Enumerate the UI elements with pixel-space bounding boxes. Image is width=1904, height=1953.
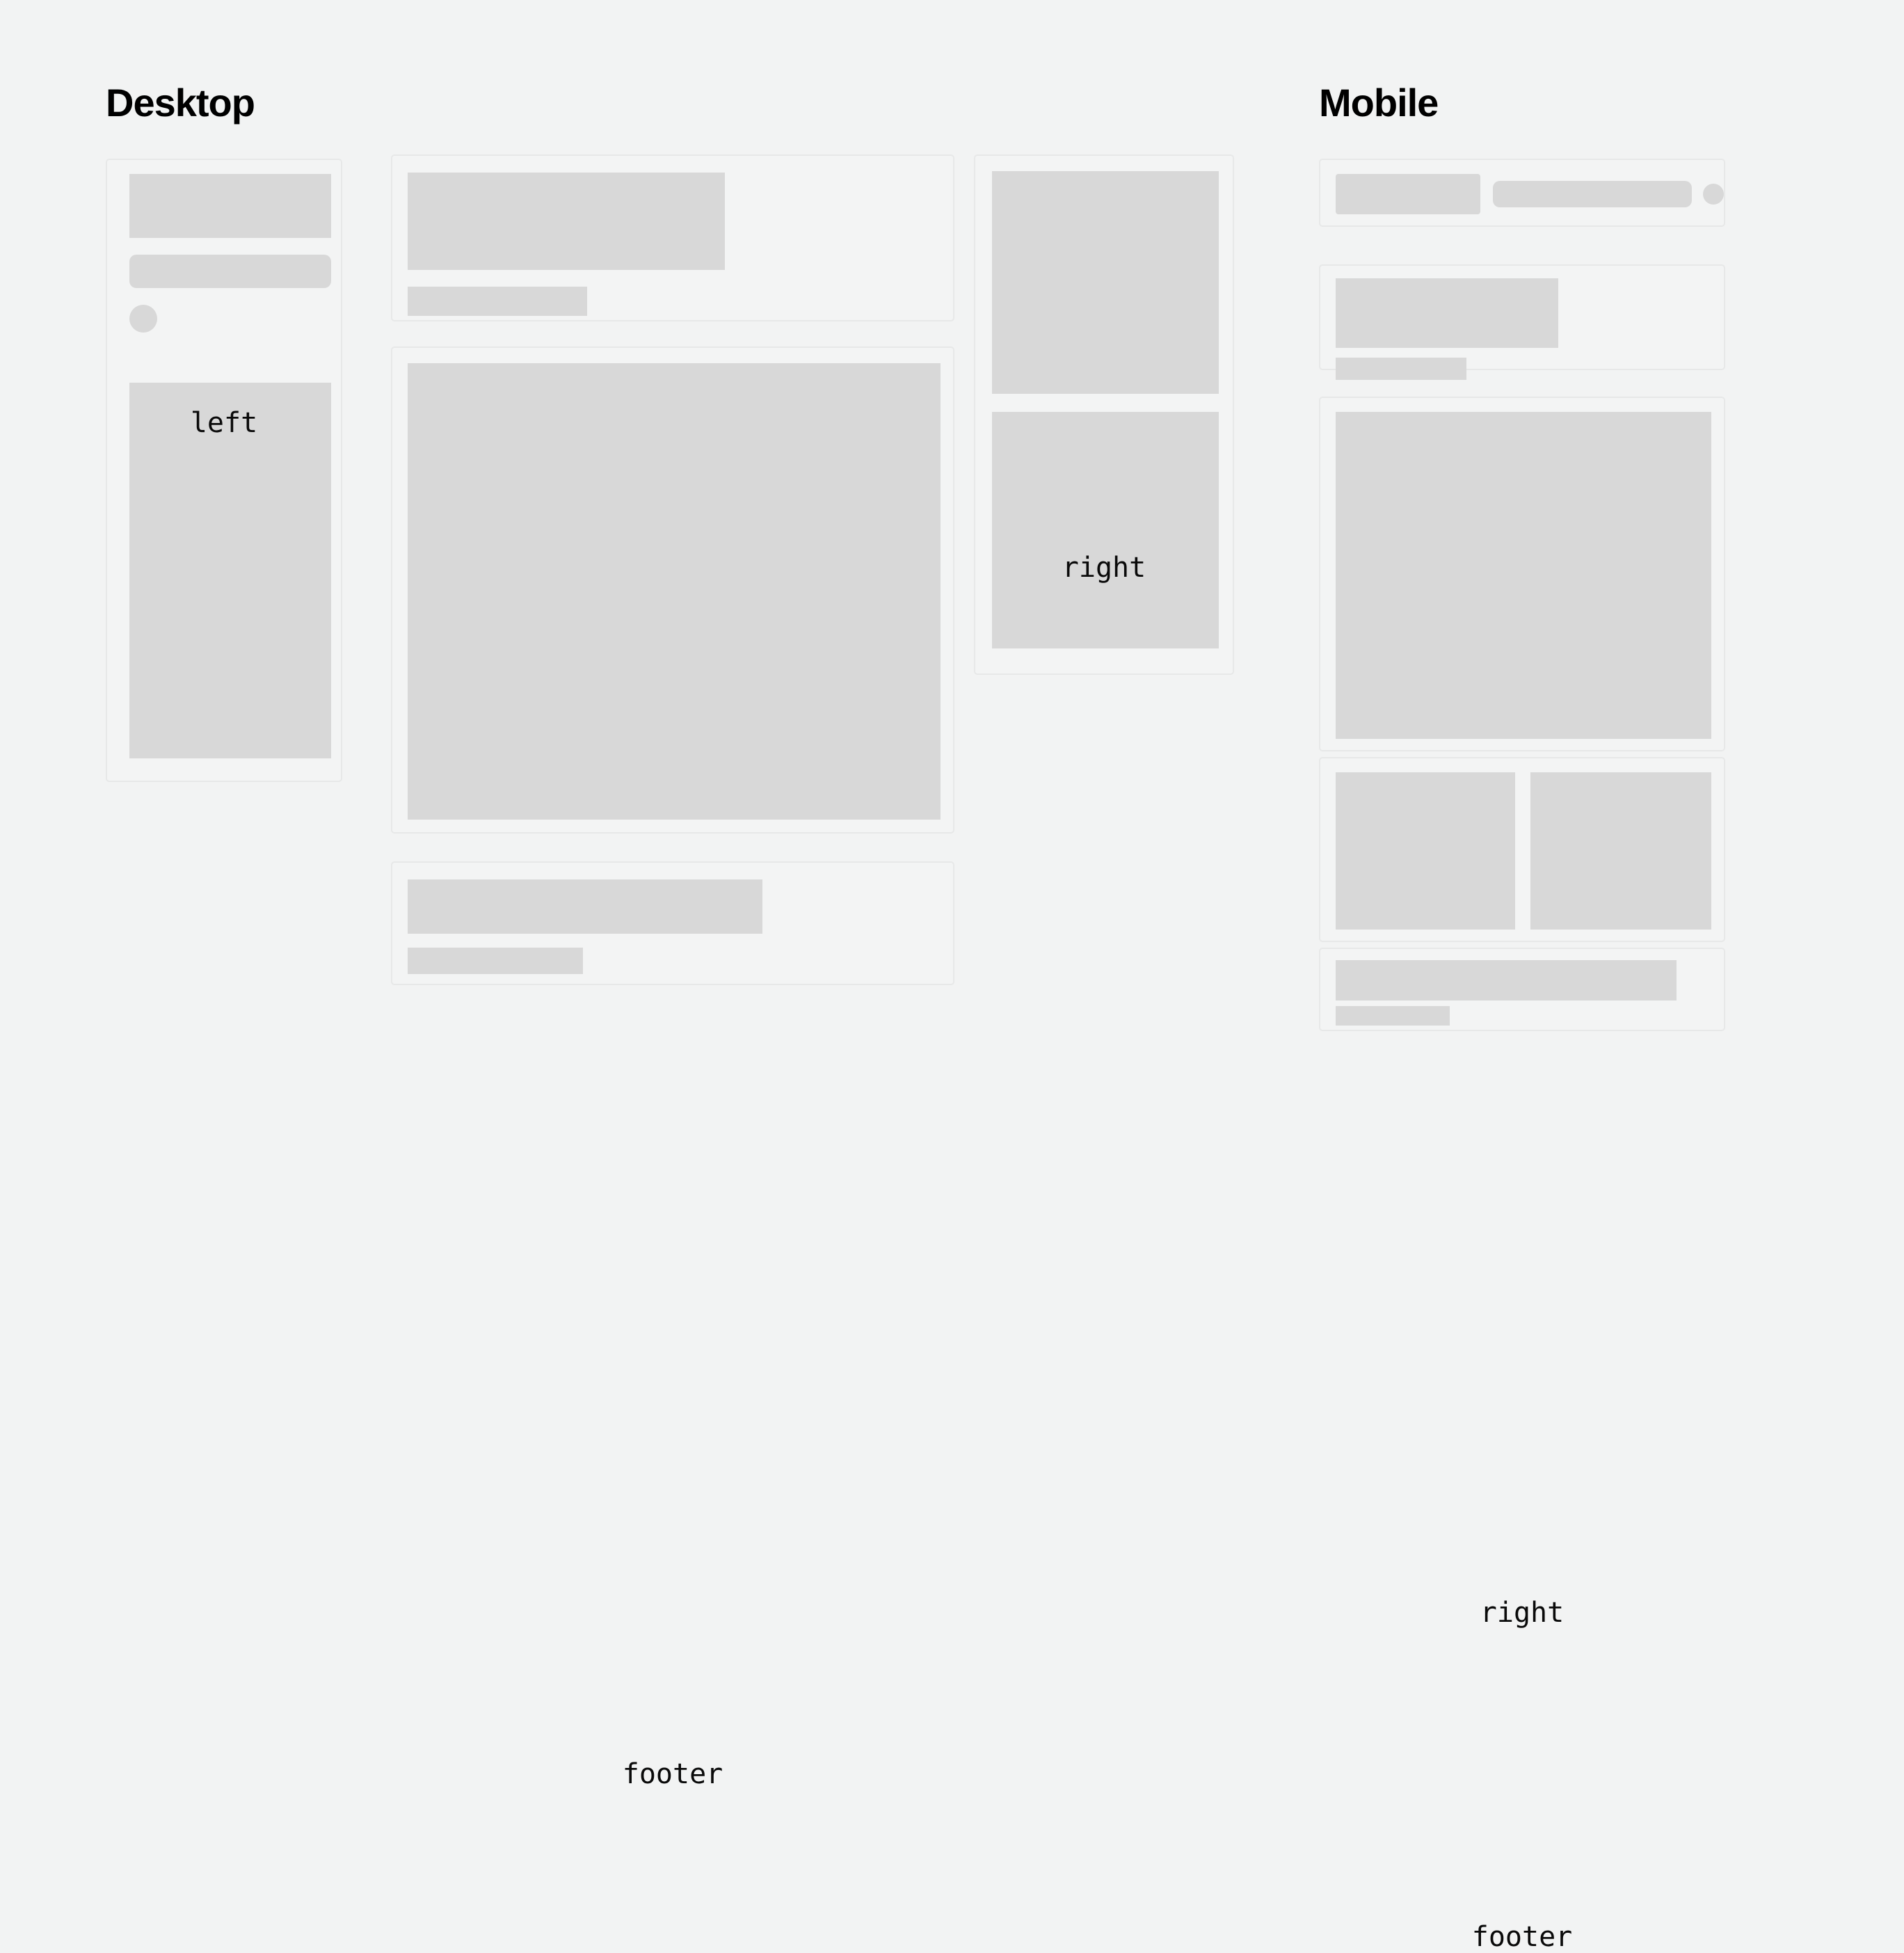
skeleton-bar-short: [1336, 1006, 1450, 1026]
mobile-beforebody-content: [1320, 266, 1724, 369]
desktop-panel-beforebody[interactable]: beforeBody: [391, 154, 954, 321]
desktop-panel-left[interactable]: left: [106, 159, 342, 782]
skeleton-block-large: [129, 174, 331, 238]
mobile-footer-label: footer: [1320, 1923, 1724, 1951]
desktop-panel-footer[interactable]: footer: [391, 861, 954, 985]
layout-preview-page: { "page": { "background_color": "#f2f3f3…: [0, 0, 1904, 1076]
mobile-right-content: [1320, 758, 1724, 941]
desktop-left-content: [107, 160, 341, 781]
skeleton-bar-short: [1336, 358, 1466, 380]
desktop-pagebody-content: [392, 348, 953, 832]
mobile-panel-pagebody[interactable]: pageBody: [1319, 397, 1725, 751]
skeleton-bar-rounded: [1493, 181, 1692, 207]
mobile-panel-footer[interactable]: footer: [1319, 948, 1725, 1031]
skeleton-bar-short: [408, 948, 583, 974]
skeleton-bar-rounded: [129, 255, 331, 288]
mobile-footer-content: [1320, 949, 1724, 1030]
mobile-pagebody-content: [1320, 398, 1724, 750]
desktop-panel-pagebody[interactable]: pageBody: [391, 346, 954, 834]
skeleton-block-tall: [129, 383, 331, 758]
mobile-left-content: [1320, 160, 1724, 225]
desktop-section-heading: Desktop: [106, 83, 255, 122]
skeleton-block-wide: [1336, 278, 1558, 348]
skeleton-block-wide: [408, 173, 725, 270]
mobile-panel-right[interactable]: right: [1319, 757, 1725, 942]
skeleton-bar-wide: [408, 879, 762, 934]
skeleton-circle: [1703, 184, 1724, 205]
skeleton-block-top: [992, 171, 1219, 394]
mobile-section-heading: Mobile: [1319, 83, 1438, 122]
mobile-right-label: right: [1320, 1599, 1724, 1627]
desktop-panel-right[interactable]: right: [974, 154, 1234, 675]
skeleton-block-col-1: [1336, 772, 1515, 930]
skeleton-bar-wide: [1336, 960, 1677, 1001]
skeleton-block-fill: [1336, 412, 1711, 739]
skeleton-block-col-2: [1530, 772, 1711, 930]
desktop-footer-label: footer: [392, 1760, 953, 1788]
skeleton-block-fill: [408, 363, 941, 820]
mobile-panel-left[interactable]: left: [1319, 159, 1725, 227]
skeleton-block-bottom: [992, 412, 1219, 648]
skeleton-bar-short: [408, 287, 587, 316]
skeleton-block-square: [1336, 174, 1480, 214]
skeleton-circle: [129, 305, 157, 333]
desktop-footer-content: [392, 863, 953, 984]
mobile-panel-beforebody[interactable]: beforeBody: [1319, 264, 1725, 370]
desktop-beforebody-content: [392, 156, 953, 320]
desktop-right-content: [975, 156, 1233, 673]
